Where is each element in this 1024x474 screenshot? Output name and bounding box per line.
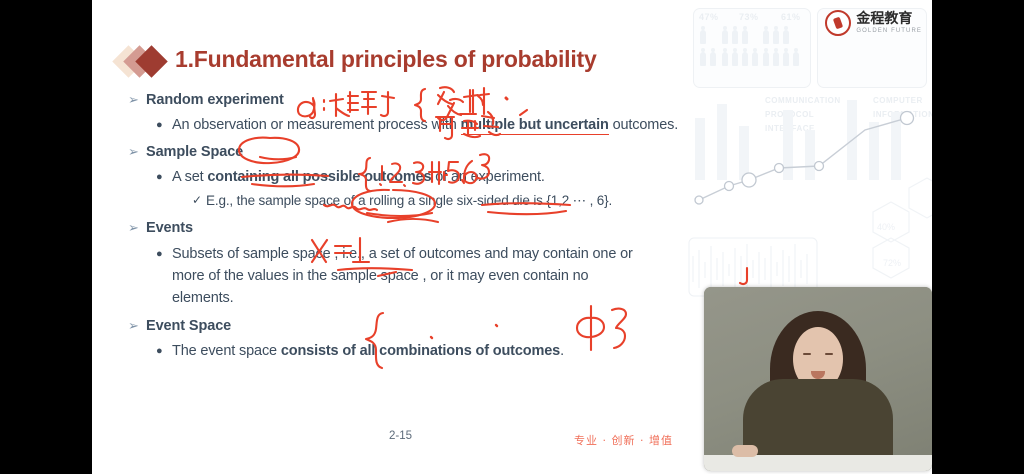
page-title: 1.Fundamental principles of probability <box>175 46 597 73</box>
art-stat-1: 73% <box>739 12 759 22</box>
arrow-bullet-icon: ➢ <box>128 316 146 336</box>
bullet-label: E.g., the sample space of a rolling a si… <box>206 190 612 211</box>
page-number: 2-15 <box>389 430 412 442</box>
check-bullet-icon: ✓ <box>192 190 206 211</box>
art-stat-2: 61% <box>781 12 801 22</box>
bullet-events: ➢ Events <box>128 218 708 238</box>
arrow-bullet-icon: ➢ <box>128 90 146 110</box>
bullet-label: Events <box>146 218 193 238</box>
slide-canvas: 47% 73% 61% COMMUNICATION PROTOCOL INTER… <box>92 0 932 474</box>
bullet-text-pre: The event space <box>172 343 281 359</box>
bullet-label: Random experiment <box>146 90 284 110</box>
background-infographic: 47% 73% 61% COMMUNICATION PROTOCOL INTER… <box>687 0 932 300</box>
bullet-text-post: . <box>560 343 564 359</box>
bullet-set-containing: ● A set containing all possible outcomes… <box>156 166 708 188</box>
bullet-observation: ● An observation or measurement process … <box>156 114 708 136</box>
eye-left <box>803 353 811 355</box>
bullet-sample-space: ➢ Sample Space <box>128 142 708 162</box>
svg-text:72%: 72% <box>883 258 901 268</box>
dot-bullet-icon: ● <box>156 243 172 265</box>
logo-name-en: GOLDEN FUTURE <box>856 28 922 34</box>
eye-right <box>825 353 833 355</box>
art-label-3: COMPUTER <box>873 96 923 105</box>
arrow-bullet-icon: ➢ <box>128 142 146 162</box>
mouth <box>811 371 825 379</box>
bullet-label: Subsets of sample space , i.e., a set of… <box>172 243 642 309</box>
art-label-4: INFORMATION <box>873 110 932 119</box>
logo-name-cn: 金程教育 <box>856 12 922 26</box>
dot-bullet-icon: ● <box>156 340 172 362</box>
art-linechart: 40% 72% <box>687 0 932 300</box>
bullet-random-experiment: ➢ Random experiment <box>128 90 708 110</box>
logo-seal-icon <box>825 10 851 36</box>
bullet-text-emphasis: containing all possible outcomes <box>207 169 431 185</box>
presenter-hand <box>732 445 758 457</box>
desk-surface <box>704 455 932 471</box>
bullet-text-post: outcomes. <box>609 117 678 133</box>
bullet-subsets: ● Subsets of sample space , i.e., a set … <box>156 243 708 309</box>
art-label-1: PROTOCOL <box>765 110 814 119</box>
bullet-label: Event Space <box>146 316 231 336</box>
bullet-example-die: ✓ E.g., the sample space of a rolling a … <box>192 190 708 211</box>
art-label-2: INTERFACE <box>765 124 815 133</box>
video-frame: 47% 73% 61% COMMUNICATION PROTOCOL INTER… <box>0 0 1024 474</box>
bullet-text-post: of an experiment. <box>431 169 544 185</box>
bullet-text-pre: An observation or measurement process wi… <box>172 117 461 133</box>
arrow-bullet-icon: ➢ <box>128 218 146 238</box>
brand-logo: 金程教育 GOLDEN FUTURE <box>825 10 922 36</box>
bullet-event-space: ➢ Event Space <box>128 316 708 336</box>
dot-bullet-icon: ● <box>156 114 172 136</box>
brand-tagline: 专业 · 创新 · 增值 <box>574 432 673 448</box>
slide-title-row: 1.Fundamental principles of probability <box>117 46 597 73</box>
svg-text:40%: 40% <box>877 222 895 232</box>
bullet-label: Sample Space <box>146 142 243 162</box>
bullet-text-emphasis: multiple but uncertain <box>461 117 609 135</box>
art-label-0: COMMUNICATION <box>765 96 841 105</box>
presenter-torso <box>743 379 893 457</box>
slide-body: ➢ Random experiment ● An observation or … <box>128 88 708 362</box>
art-card-pictogram <box>693 8 811 88</box>
dot-bullet-icon: ● <box>156 166 172 188</box>
art-stat-0: 47% <box>699 12 719 22</box>
webcam-overlay[interactable] <box>704 287 932 471</box>
bullet-text-emphasis: consists of all combinations of outcomes <box>281 343 560 359</box>
bullet-text-pre: A set <box>172 169 207 185</box>
bullet-event-space-detail: ● The event space consists of all combin… <box>156 340 708 362</box>
